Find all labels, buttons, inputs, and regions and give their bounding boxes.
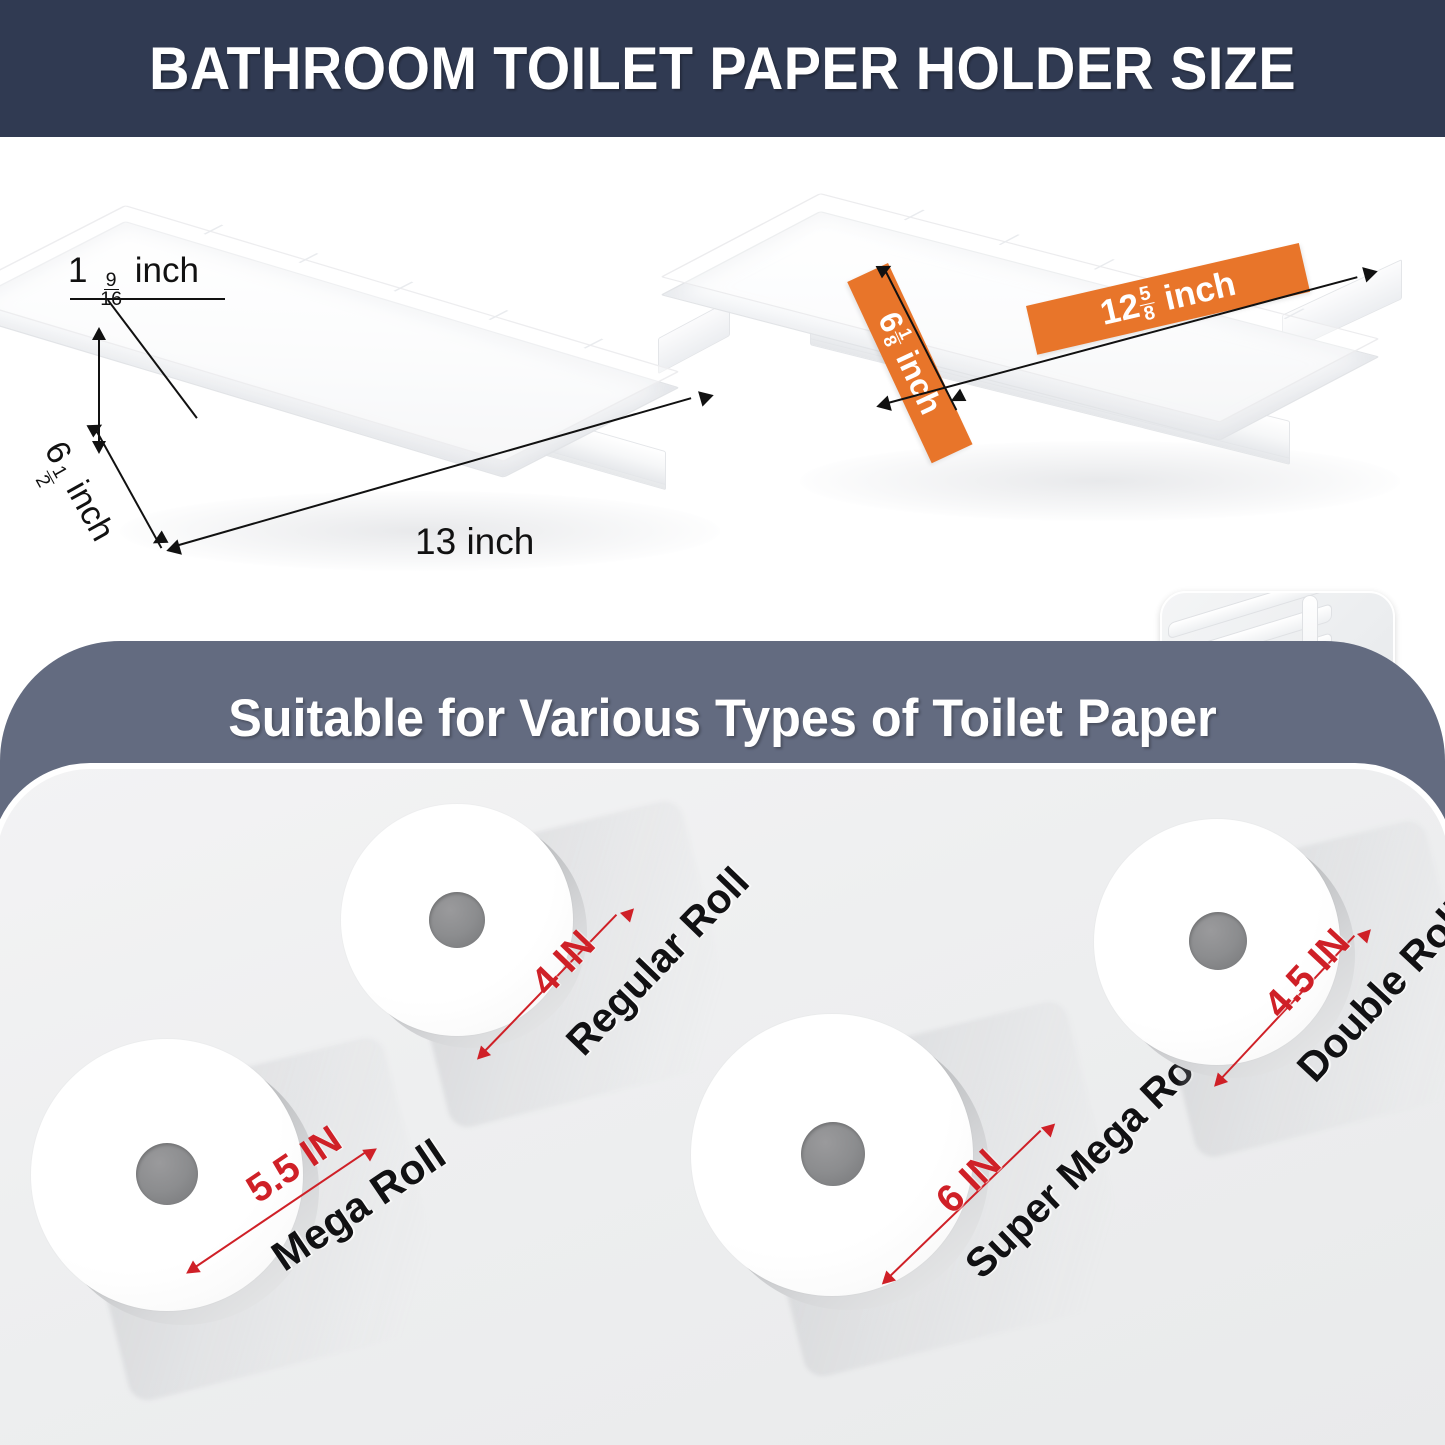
product-dimension-section: 1 916 inch 612 inch 13 inch bbox=[0, 141, 1445, 641]
suitable-rolls-section: Suitable for Various Types of Toilet Pap… bbox=[0, 641, 1445, 1445]
page-title: BATHROOM TOILET PAPER HOLDER SIZE bbox=[149, 34, 1296, 103]
header-bar: BATHROOM TOILET PAPER HOLDER SIZE bbox=[0, 0, 1445, 137]
regular-roll-core-hole bbox=[429, 892, 485, 948]
roll-regular bbox=[341, 804, 591, 1054]
infographic-page: BATHROOM TOILET PAPER HOLDER SIZE 1 916 … bbox=[0, 0, 1445, 1445]
double-roll-core-hole bbox=[1189, 912, 1247, 970]
mega-roll-core-hole bbox=[136, 1143, 198, 1205]
rolls-photo-panel: 5.5 IN Mega Roll 4 IN Regular Roll bbox=[0, 763, 1445, 1445]
roll-super-mega bbox=[691, 1014, 991, 1314]
dim-label-width: 13 inch bbox=[415, 521, 534, 563]
dim-leader-height-rule bbox=[70, 298, 225, 300]
dim-arrow-height-up bbox=[92, 327, 106, 340]
section-title: Suitable for Various Types of Toilet Pap… bbox=[36, 688, 1409, 749]
left-tray-side-face bbox=[658, 300, 730, 374]
super-mega-roll-core-hole bbox=[801, 1122, 865, 1186]
